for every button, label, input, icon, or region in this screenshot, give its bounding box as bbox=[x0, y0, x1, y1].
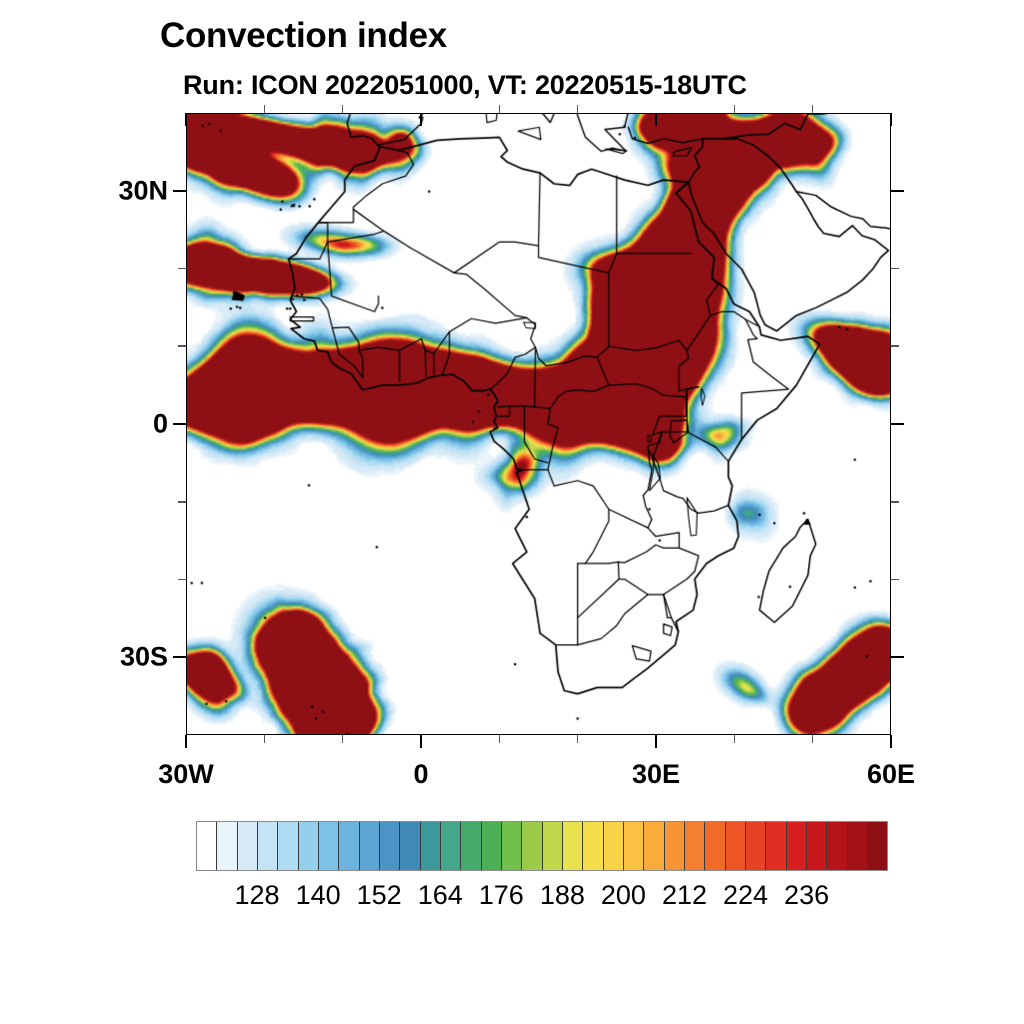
x-major-tick bbox=[655, 735, 657, 748]
x-major-tick bbox=[890, 735, 892, 748]
y-major-tick-right bbox=[891, 656, 904, 658]
y-axis-label: 0 bbox=[60, 409, 168, 440]
map-plot-area[interactable] bbox=[186, 113, 891, 735]
colorbar-cell bbox=[807, 822, 827, 870]
x-minor-tick bbox=[264, 735, 266, 743]
x-minor-tick bbox=[734, 735, 736, 743]
colorbar-cell bbox=[258, 822, 278, 870]
x-axis-label: 30E bbox=[632, 759, 680, 790]
colorbar-tick-label: 176 bbox=[479, 880, 524, 911]
colorbar-cell bbox=[685, 822, 705, 870]
y-minor-tick-right bbox=[891, 268, 899, 270]
y-minor-tick bbox=[178, 579, 186, 581]
colorbar-cell bbox=[482, 822, 502, 870]
colorbar-cell bbox=[522, 822, 542, 870]
colorbar-cell bbox=[217, 822, 237, 870]
colorbar-tick-label: 224 bbox=[723, 880, 768, 911]
x-top-tick bbox=[655, 113, 657, 126]
colorbar-tick-label: 140 bbox=[296, 880, 341, 911]
colorbar-cell bbox=[502, 822, 522, 870]
x-minor-tick-top bbox=[342, 105, 344, 113]
colorbar-tick-label: 164 bbox=[418, 880, 463, 911]
colorbar-cell bbox=[400, 822, 420, 870]
colorbar-tick-label: 212 bbox=[662, 880, 707, 911]
colorbar-cell bbox=[665, 822, 685, 870]
colorbar-cell bbox=[746, 822, 766, 870]
x-major-tick bbox=[185, 735, 187, 748]
y-major-tick-right bbox=[891, 190, 904, 192]
x-top-tick bbox=[420, 113, 422, 126]
colorbar-cell bbox=[644, 822, 664, 870]
colorbar-cell bbox=[563, 822, 583, 870]
x-axis-label: 60E bbox=[867, 759, 915, 790]
x-axis-label: 30W bbox=[158, 759, 214, 790]
y-minor-tick-right bbox=[891, 579, 899, 581]
figure-root: Convection index Run: ICON 2022051000, V… bbox=[0, 0, 1024, 1024]
colorbar-tick-label: 236 bbox=[784, 880, 829, 911]
colorbar-cell bbox=[278, 822, 298, 870]
colorbar-cell bbox=[319, 822, 339, 870]
colorbar-cell bbox=[339, 822, 359, 870]
x-minor-tick-top bbox=[577, 105, 579, 113]
colorbar-cell bbox=[868, 822, 887, 870]
x-top-tick bbox=[890, 113, 892, 126]
y-minor-tick bbox=[178, 345, 186, 347]
colorbar-tick-label: 188 bbox=[540, 880, 585, 911]
y-major-tick bbox=[173, 656, 186, 658]
y-minor-tick bbox=[178, 501, 186, 503]
colorbar-cell bbox=[299, 822, 319, 870]
colorbar-cell bbox=[421, 822, 441, 870]
colorbar-cell bbox=[461, 822, 481, 870]
y-minor-tick-right bbox=[891, 345, 899, 347]
colorbar-cell bbox=[848, 822, 868, 870]
convection-index-map bbox=[187, 114, 890, 734]
y-major-tick-right bbox=[891, 423, 904, 425]
colorbar-cell bbox=[604, 822, 624, 870]
colorbar-cells bbox=[196, 821, 888, 871]
colorbar-cell bbox=[380, 822, 400, 870]
colorbar-cell bbox=[441, 822, 461, 870]
colorbar-cell bbox=[705, 822, 725, 870]
y-minor-tick bbox=[178, 268, 186, 270]
colorbar-tick-label: 128 bbox=[235, 880, 280, 911]
colorbar[interactable] bbox=[196, 821, 888, 871]
colorbar-cell bbox=[827, 822, 847, 870]
colorbar-cell bbox=[583, 822, 603, 870]
y-minor-tick-right bbox=[891, 501, 899, 503]
x-top-tick bbox=[185, 113, 187, 126]
y-major-tick bbox=[173, 423, 186, 425]
y-axis-label: 30N bbox=[60, 175, 168, 206]
x-minor-tick bbox=[577, 735, 579, 743]
x-minor-tick bbox=[342, 735, 344, 743]
colorbar-cell bbox=[726, 822, 746, 870]
x-minor-tick-top bbox=[734, 105, 736, 113]
x-minor-tick-top bbox=[264, 105, 266, 113]
x-minor-tick-top bbox=[499, 105, 501, 113]
x-minor-tick bbox=[812, 735, 814, 743]
colorbar-cell bbox=[787, 822, 807, 870]
y-major-tick bbox=[173, 190, 186, 192]
colorbar-tick-label: 152 bbox=[357, 880, 402, 911]
x-minor-tick bbox=[499, 735, 501, 743]
x-minor-tick-top bbox=[812, 105, 814, 113]
x-major-tick bbox=[420, 735, 422, 748]
x-axis-label: 0 bbox=[413, 759, 428, 790]
colorbar-cell bbox=[766, 822, 786, 870]
y-axis-label: 30S bbox=[60, 642, 168, 673]
colorbar-cell bbox=[197, 822, 217, 870]
colorbar-tick-label: 200 bbox=[601, 880, 646, 911]
colorbar-cell bbox=[360, 822, 380, 870]
page-title: Convection index bbox=[160, 16, 447, 56]
colorbar-cell bbox=[543, 822, 563, 870]
colorbar-cell bbox=[624, 822, 644, 870]
run-valid-time-subtitle: Run: ICON 2022051000, VT: 20220515-18UTC bbox=[183, 70, 747, 101]
colorbar-cell bbox=[238, 822, 258, 870]
